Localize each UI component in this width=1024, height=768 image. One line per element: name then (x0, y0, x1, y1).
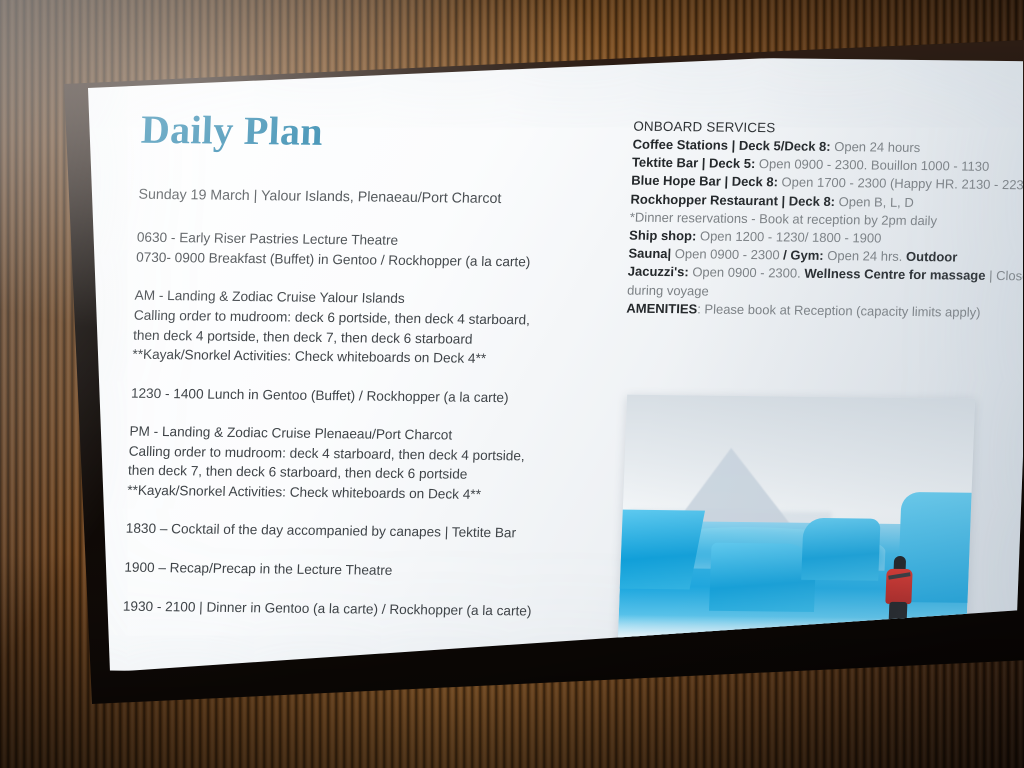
schedule-block: 1230 - 1400 Lunch in Gentoo (Buffet) / R… (131, 383, 602, 408)
service-label: AMENITIES (626, 300, 697, 316)
service-value: : Please book at Reception (capacity lim… (697, 301, 981, 319)
schedule-block: AM - Landing & Zodiac Cruise Yalour Isla… (132, 286, 605, 370)
schedule-line: 1900 – Recap/Precap in the Lecture Theat… (124, 558, 595, 583)
services-list: Coffee Stations | Deck 5/Deck 8: Open 24… (626, 136, 1024, 323)
service-value: Open B, L, D (835, 194, 914, 210)
service-label: Sauna| (628, 246, 671, 262)
service-label: Ship shop: (629, 228, 697, 244)
schedule-block: 0630 - Early Riser Pastries Lecture Thea… (136, 228, 607, 273)
schedule-line: 1830 – Cocktail of the day accompanied b… (125, 519, 596, 544)
schedule-block: 1830 – Cocktail of the day accompanied b… (125, 519, 596, 544)
schedule-column: Daily Plan Sunday 19 March | Yalour Isla… (122, 109, 612, 641)
slide-subtitle: Sunday 19 March | Yalour Islands, Plenae… (138, 185, 609, 212)
service-label: Jacuzzi's: (628, 264, 689, 280)
service-label: Rockhopper Restaurant | Deck 8: (630, 191, 835, 208)
schedule-line: 1930 - 2100 | Dinner in Gentoo (a la car… (123, 596, 594, 621)
onboard-services-column: ONBOARD SERVICES Coffee Stations | Deck … (626, 119, 1024, 323)
page-title: Daily Plan (140, 109, 612, 157)
service-value: during voyage (627, 282, 709, 298)
service-value: Open 0900 - 2300. Bouillon 1000 - 1130 (755, 156, 990, 174)
photo-iceberg (801, 517, 880, 581)
service-value: Open 24 hours (830, 139, 920, 155)
service-value: *Dinner reservations - Book at reception… (630, 209, 938, 228)
service-label: Coffee Stations | Deck 5/Deck 8: (632, 137, 831, 154)
schedule-blocks: 0630 - Early Riser Pastries Lecture Thea… (123, 228, 608, 622)
service-label: Wellness Centre for massage (804, 266, 986, 283)
service-label: / Gym: (783, 248, 824, 263)
schedule-line: 1230 - 1400 Lunch in Gentoo (Buffet) / R… (131, 383, 602, 408)
service-label: Tektite Bar | Deck 5: (632, 155, 756, 171)
service-label: Outdoor (906, 249, 958, 265)
service-label: Blue Hope Bar | Deck 8: (631, 173, 778, 190)
service-value: Open 24 hrs. (823, 248, 906, 264)
daily-plan-slide: Daily Plan Sunday 19 March | Yalour Isla… (113, 99, 1016, 662)
service-value: Open 0900 - 2300 (671, 246, 784, 262)
service-value: Open 1700 - 2300 (Happy HR. 2130 - 2230) (778, 175, 1024, 193)
service-value: Open 1200 - 1230/ 1800 - 1900 (696, 228, 882, 245)
photo-iceberg (617, 510, 705, 590)
service-value: | Closed (985, 268, 1024, 284)
schedule-block: 1900 – Recap/Precap in the Lecture Theat… (124, 558, 595, 583)
service-value: Open 0900 - 2300. (688, 265, 804, 281)
service-line: AMENITIES: Please book at Reception (cap… (626, 299, 1024, 322)
schedule-block: 1930 - 2100 | Dinner in Gentoo (a la car… (123, 596, 594, 621)
slide-surface: Daily Plan Sunday 19 March | Yalour Isla… (64, 50, 1024, 681)
schedule-block: PM - Landing & Zodiac Cruise Plenaeau/Po… (127, 422, 600, 506)
